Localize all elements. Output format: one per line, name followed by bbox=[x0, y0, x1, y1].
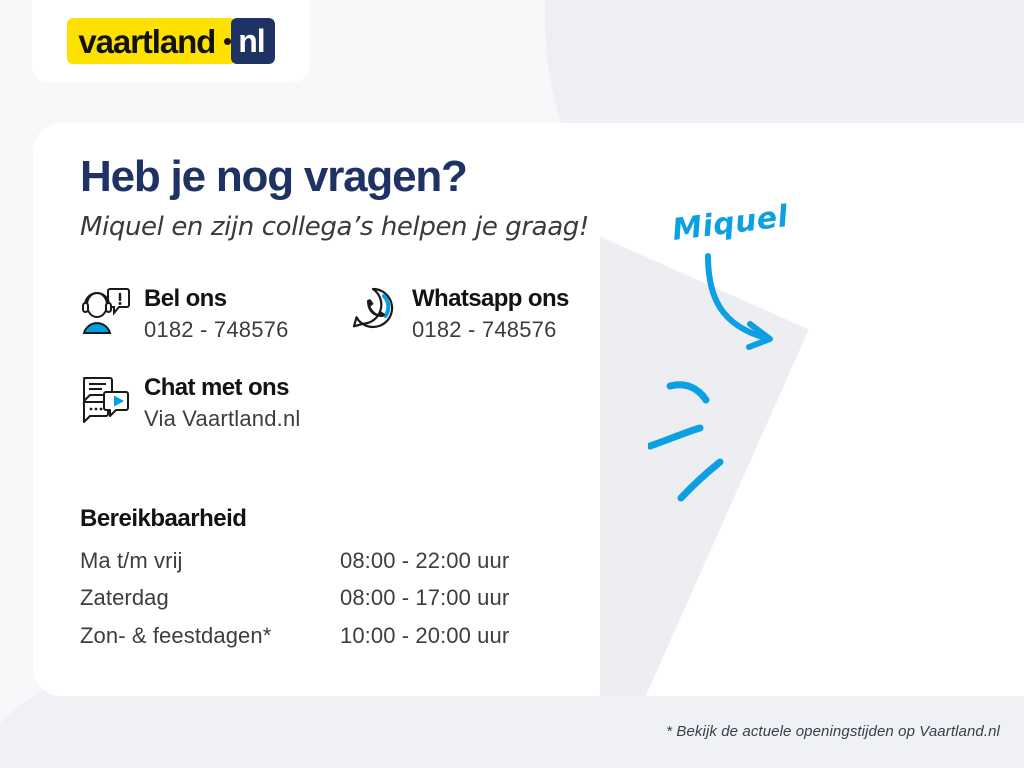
page-title: Heb je nog vragen? bbox=[80, 155, 467, 199]
brand-logo[interactable]: vaartland nl bbox=[32, 0, 310, 82]
hours-day: Zaterdag bbox=[80, 585, 340, 622]
logo-wordmark: vaartland bbox=[67, 18, 224, 64]
contact-whatsapp-value[interactable]: 0182 - 748576 bbox=[412, 317, 569, 342]
contact-chat[interactable]: Chat met ons Via Vaartland.nl bbox=[80, 372, 301, 431]
hours-time: 10:00 - 20:00 uur bbox=[340, 623, 509, 660]
footnote: * Bekijk de actuele openingstijden op Va… bbox=[666, 723, 1000, 740]
contact-call-value[interactable]: 0182 - 748576 bbox=[144, 317, 289, 342]
promo-banner: vaartland nl bbox=[0, 0, 1024, 768]
table-row: Ma t/m vrij 08:00 - 22:00 uur bbox=[80, 548, 509, 585]
decorative-accent-strokes bbox=[648, 358, 768, 503]
page-subtitle: Miquel en zijn collega’s helpen je graag… bbox=[80, 213, 589, 242]
curved-arrow-icon bbox=[700, 250, 810, 355]
contact-call[interactable]: Bel ons 0182 - 748576 bbox=[80, 283, 289, 342]
table-row: Zaterdag 08:00 - 17:00 uur bbox=[80, 585, 509, 622]
whatsapp-phone-bubble-icon bbox=[348, 283, 398, 335]
hours-day: Zon- & feestdagen* bbox=[80, 623, 340, 660]
contact-whatsapp[interactable]: Whatsapp ons 0182 - 748576 bbox=[348, 283, 569, 342]
contact-whatsapp-title: Whatsapp ons bbox=[412, 285, 569, 313]
hours-time: 08:00 - 17:00 uur bbox=[340, 585, 509, 622]
hours-time: 08:00 - 22:00 uur bbox=[340, 548, 509, 585]
contact-chat-title: Chat met ons bbox=[144, 374, 301, 402]
contact-chat-text: Chat met ons Via Vaartland.nl bbox=[144, 372, 301, 431]
contact-whatsapp-text: Whatsapp ons 0182 - 748576 bbox=[412, 283, 569, 342]
contact-call-text: Bel ons 0182 - 748576 bbox=[144, 283, 289, 342]
chat-bubbles-play-icon bbox=[80, 372, 130, 424]
hours-day: Ma t/m vrij bbox=[80, 548, 340, 585]
contact-call-title: Bel ons bbox=[144, 285, 289, 313]
headset-person-speech-bubble-icon bbox=[80, 283, 130, 335]
hours-heading: Bereikbaarheid bbox=[80, 505, 246, 533]
table-row: Zon- & feestdagen* 10:00 - 20:00 uur bbox=[80, 623, 509, 660]
logo-tld: nl bbox=[231, 18, 274, 64]
opening-hours-table: Ma t/m vrij 08:00 - 22:00 uur Zaterdag 0… bbox=[80, 548, 509, 660]
logo-pill: vaartland nl bbox=[67, 18, 274, 64]
contact-chat-value[interactable]: Via Vaartland.nl bbox=[144, 406, 301, 431]
